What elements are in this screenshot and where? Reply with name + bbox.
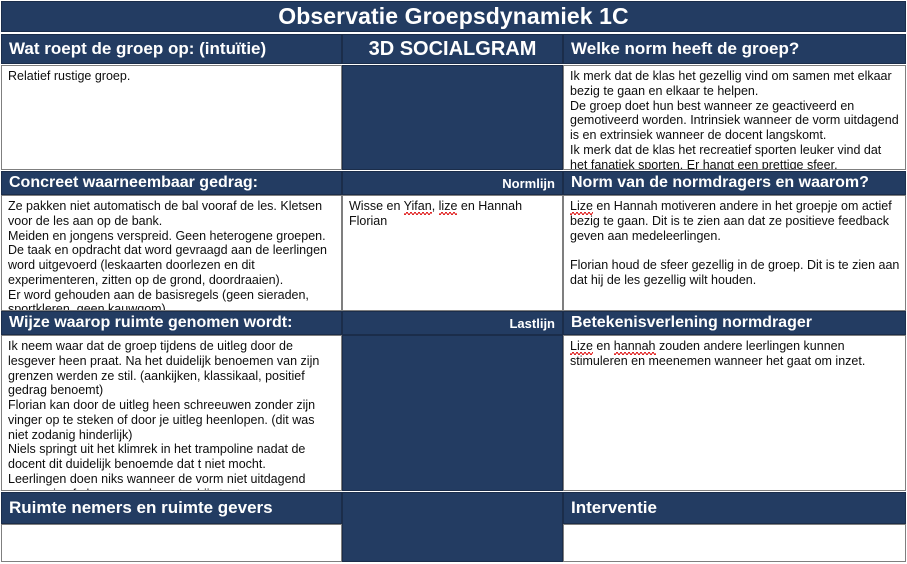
betekenis-misspelled-lize: Lize <box>570 339 593 355</box>
normlijn-text-c: , <box>432 199 439 213</box>
ruimte-line-1: Ik neem waar dat de groep tijdens de uit… <box>8 339 336 398</box>
cell-norm-groep-body[interactable]: Ik merk dat de klas het gezellig vind om… <box>563 65 906 170</box>
gedrag-line-2: Meiden en jongens verspreid. Geen hetero… <box>8 229 336 244</box>
cell-ruimte-body[interactable]: Ik neem waar dat de groep tijdens de uit… <box>1 335 342 491</box>
gedrag-line-1: Ze pakken niet automatisch de bal vooraf… <box>8 199 336 229</box>
column-header-intuitie: Wat roept de groep op: (intuïtie) <box>1 34 342 64</box>
section-header-betekenisverlening: Betekenisverlening normdrager <box>563 311 906 335</box>
normdragers-spacer <box>570 243 900 258</box>
section-header-lastlijn: Lastlijn <box>342 311 563 335</box>
section-header-normlijn: Normlijn <box>342 171 563 195</box>
cell-ruimte-nemers-gevers-body[interactable] <box>1 524 342 562</box>
gedrag-line-3: De taak en opdracht dat word gevraagd aa… <box>8 243 336 287</box>
column-header-norm: Welke norm heeft de groep? <box>563 34 906 64</box>
cell-intuitie-body[interactable]: Relatief rustige groep. <box>1 65 342 170</box>
section-header-ruimte: Wijze waarop ruimte genomen wordt: <box>1 311 342 335</box>
normdragers-misspelled-lize: Lize <box>570 199 593 215</box>
intuitie-text: Relatief rustige groep. <box>8 69 336 84</box>
normlijn-text-a: Wisse en <box>349 199 404 213</box>
betekenis-misspelled-hannah: hannah <box>614 339 656 355</box>
page-title: Observatie Groepsdynamiek 1C <box>1 1 906 32</box>
section-header-gedrag: Concreet waarneembaar gedrag: <box>1 171 342 195</box>
normlijn-line-2: Florian <box>349 214 557 229</box>
cell-interventie-body[interactable] <box>563 524 906 562</box>
section-header-ruimte-nemers-gevers: Ruimte nemers en ruimte gevers <box>1 492 342 524</box>
socialgram-canvas-top <box>342 65 563 170</box>
norm-line-2: De groep doet hun best wanneer ze geacti… <box>570 99 900 143</box>
column-header-socialgram: 3D SOCIALGRAM <box>342 34 563 64</box>
ruimte-line-2: Florian kan door de uitleg heen schreeuw… <box>8 398 336 442</box>
section-header-normdragers: Norm van de normdragers en waarom? <box>563 171 906 195</box>
normlijn-line-1: Wisse en Yifan, lize en Hannah <box>349 199 557 214</box>
ruimte-line-3: Niels springt uit het klimrek in het tra… <box>8 442 336 472</box>
normlijn-text-e: en Hannah <box>457 199 522 213</box>
socialgram-canvas-middle <box>342 335 563 491</box>
betekenis-text-b: en <box>593 339 614 353</box>
normdragers-paragraph-2: Florian houd de sfeer gezellig in de gro… <box>570 258 900 288</box>
section-header-interventie: Interventie <box>563 492 906 524</box>
betekenis-paragraph: Lize en hannah zouden andere leerlingen … <box>570 339 900 369</box>
socialgram-canvas-bottom <box>342 492 563 562</box>
normlijn-misspelled-yifan: Yifan <box>404 199 432 215</box>
cell-normlijn-body[interactable]: Wisse en Yifan, lize en Hannah Florian <box>342 195 563 311</box>
norm-line-3: Ik merk dat de klas het recreatief sport… <box>570 143 900 170</box>
normlijn-misspelled-lize: lize <box>439 199 458 215</box>
normdragers-text-1: en Hannah motiveren andere in het groepj… <box>570 199 892 243</box>
normdragers-paragraph-1: Lize en Hannah motiveren andere in het g… <box>570 199 900 243</box>
gedrag-line-4: Er word gehouden aan de basisregels (gee… <box>8 288 336 312</box>
observation-form: Observatie Groepsdynamiek 1C Wat roept d… <box>0 0 907 564</box>
ruimte-line-4: Leerlingen doen niks wanneer de vorm nie… <box>8 472 336 491</box>
norm-line-1: Ik merk dat de klas het gezellig vind om… <box>570 69 900 99</box>
cell-normdragers-body[interactable]: Lize en Hannah motiveren andere in het g… <box>563 195 906 311</box>
cell-gedrag-body[interactable]: Ze pakken niet automatisch de bal vooraf… <box>1 195 342 311</box>
cell-betekenisverlening-body[interactable]: Lize en hannah zouden andere leerlingen … <box>563 335 906 491</box>
